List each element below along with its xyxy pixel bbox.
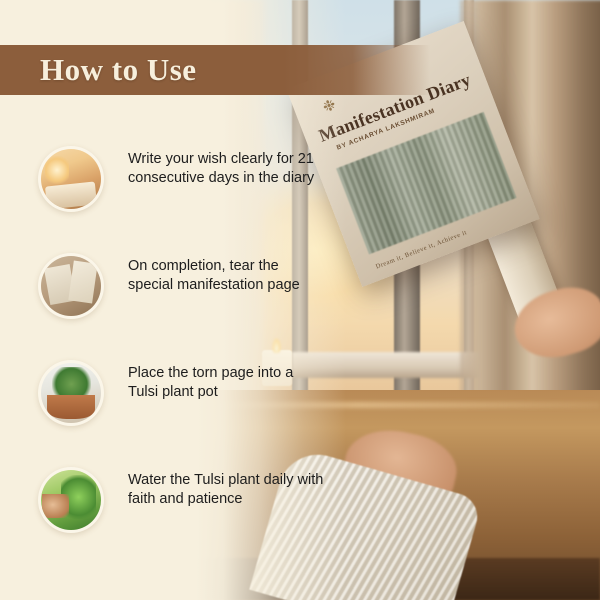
step-thumbnail-2 — [38, 253, 104, 319]
step-text-4: Water the Tulsi plant daily with faith a… — [128, 471, 324, 509]
step-thumbnail-4 — [38, 467, 104, 533]
step-thumbnail-3 — [38, 360, 104, 426]
step-text-1: Write your wish clearly for 21 consecuti… — [128, 150, 324, 188]
steps-list: Write your wish clearly for 21 consecuti… — [0, 140, 340, 568]
infographic-page: ❉ Manifestation Diary BY ACHARYA LAKSHMI… — [0, 0, 600, 600]
step-text-2: On completion, tear the special manifest… — [128, 257, 324, 295]
page-title: How to Use — [40, 52, 197, 88]
hands-tearing-page-photo-icon — [41, 256, 101, 316]
list-item: Write your wish clearly for 21 consecuti… — [0, 140, 340, 247]
step-thumbnail-1 — [38, 146, 104, 212]
step-text-3: Place the torn page into a Tulsi plant p… — [128, 364, 324, 402]
watering-tulsi-plant-photo-icon — [41, 470, 101, 530]
list-item: Place the torn page into a Tulsi plant p… — [0, 354, 340, 461]
list-item: Water the Tulsi plant daily with faith a… — [0, 461, 340, 568]
list-item: On completion, tear the special manifest… — [0, 247, 340, 354]
header-banner: How to Use — [0, 45, 430, 95]
journal-writing-sunset-photo-icon — [41, 149, 101, 209]
hand-placing-paper-in-pot-photo-icon — [41, 363, 101, 423]
